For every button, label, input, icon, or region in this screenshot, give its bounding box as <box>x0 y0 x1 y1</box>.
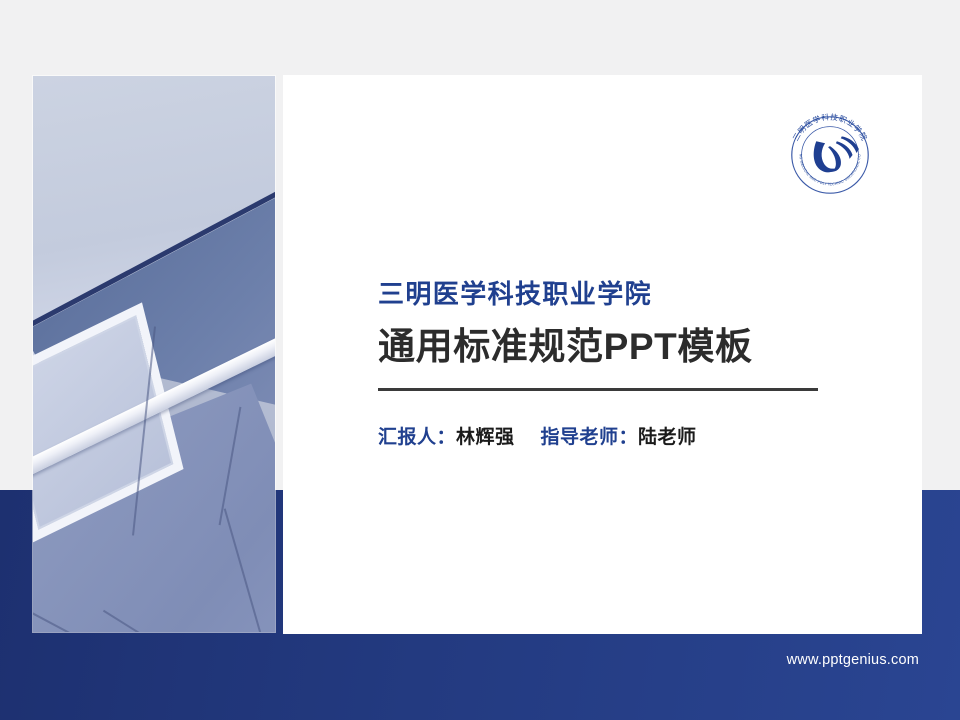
presenter-name: 林辉强 <box>456 427 515 448</box>
organization-name: 三明医学科技职业学院 <box>378 274 652 311</box>
university-seal-logo: 三明医学科技职业学院 SANMING MEDICAL AND POLYTECHN… <box>781 106 879 204</box>
cover-photo-artwork <box>33 76 275 632</box>
page-title: 通用标准规范PPT模板 <box>378 316 753 370</box>
footer-url[interactable]: www.pptgenius.com <box>787 652 919 668</box>
byline: 汇报人：林辉强指导老师：陆老师 <box>378 422 697 449</box>
content-panel: 三明医学科技职业学院 SANMING MEDICAL AND POLYTECHN… <box>283 75 922 634</box>
presentation-slide: 三明医学科技职业学院 SANMING MEDICAL AND POLYTECHN… <box>0 0 960 720</box>
title-divider <box>378 388 818 391</box>
advisor-name: 陆老师 <box>638 427 697 448</box>
advisor-label: 指导老师： <box>541 427 639 448</box>
presenter-label: 汇报人： <box>378 427 456 448</box>
cover-photo <box>33 76 275 632</box>
